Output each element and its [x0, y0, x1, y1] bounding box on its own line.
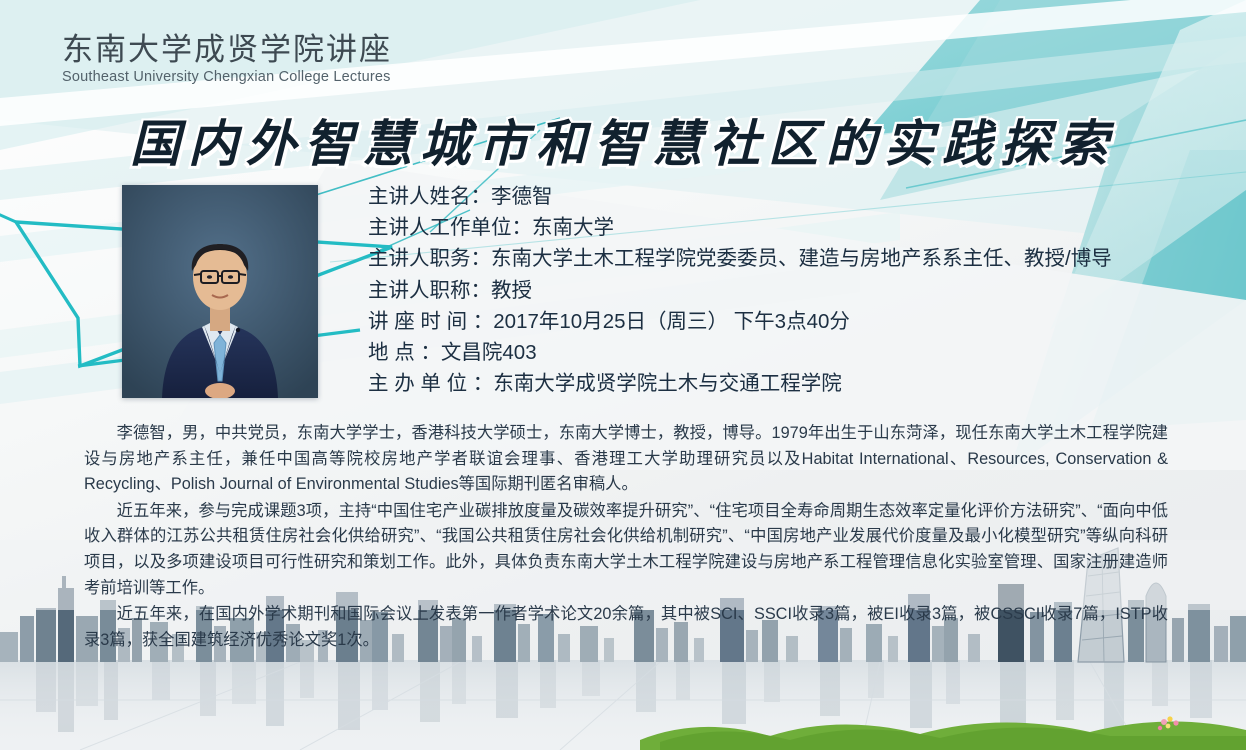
- portrait-illustration: [122, 185, 318, 398]
- bio-paragraph-1: 李德智，男，中共党员，东南大学学士，香港科技大学硕士，东南大学博士，教授，博导。…: [84, 421, 1168, 498]
- lecture-title: 国内外智慧城市和智慧社区的实践探索: [0, 104, 1246, 176]
- info-organizer: 主 办 单 位 ：东南大学成贤学院土木与交通工程学院: [368, 368, 1188, 399]
- speaker-portrait: [122, 185, 318, 398]
- lecture-poster: 东南大学成贤学院讲座 Southeast University Chengxia…: [0, 0, 1246, 750]
- info-speaker-title: 主讲人职称：教授: [368, 275, 1188, 306]
- info-lecture-time: 讲 座 时 间 ：2017年10月25日（周三） 下午3点40分: [368, 306, 1188, 337]
- lecture-info-block: 主讲人姓名：李德智 主讲人工作单位：东南大学 主讲人职务：东南大学土木工程学院党…: [368, 181, 1188, 399]
- info-lecture-venue: 地 点 ：文昌院403: [368, 337, 1188, 368]
- header-title-cn: 东南大学成贤学院讲座: [62, 33, 392, 67]
- speaker-biography: 李德智，男，中共党员，东南大学学士，香港科技大学硕士，东南大学博士，教授，博导。…: [84, 421, 1168, 654]
- header-title-en: Southeast University Chengxian College L…: [62, 69, 392, 85]
- info-speaker-name: 主讲人姓名：李德智: [368, 181, 1188, 212]
- info-speaker-position: 主讲人职务：东南大学土木工程学院党委委员、建造与房地产系系主任、教授/博导: [368, 243, 1188, 274]
- bio-paragraph-2: 近五年来，参与完成课题3项，主持“中国住宅产业碳排放度量及碳效率提升研究”、“住…: [84, 499, 1168, 601]
- poster-header: 东南大学成贤学院讲座 Southeast University Chengxia…: [62, 33, 392, 85]
- info-speaker-affiliation: 主讲人工作单位：东南大学: [368, 212, 1188, 243]
- bio-paragraph-3: 近五年来，在国内外学术期刊和国际会议上发表第一作者学术论文20余篇，其中被SCI…: [84, 602, 1168, 653]
- teal-line-upper-left: [0, 206, 16, 222]
